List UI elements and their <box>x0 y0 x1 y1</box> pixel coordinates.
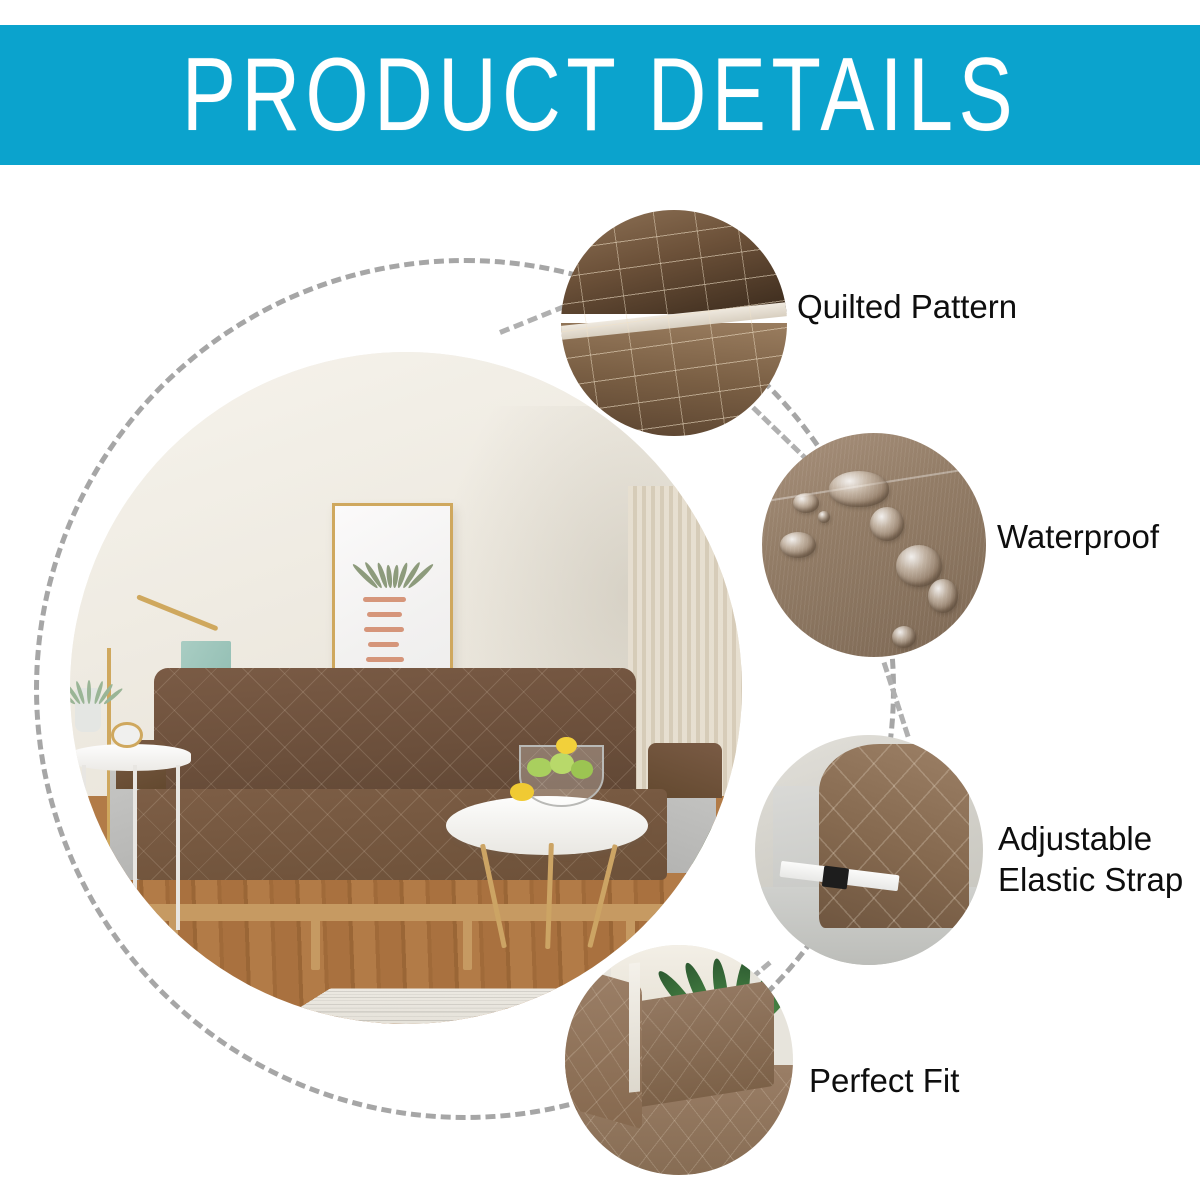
detail-image-waterproof <box>762 433 986 657</box>
greenery-leaf <box>87 680 91 704</box>
lettering-line <box>367 612 402 617</box>
table-leg <box>587 844 618 948</box>
lemon <box>556 737 577 754</box>
water-droplet <box>892 626 916 648</box>
coffee-table <box>446 796 648 944</box>
quilt-pattern-back <box>633 980 774 1108</box>
lettering-line <box>366 657 405 662</box>
label-perfect-fit: Perfect Fit <box>809 1060 959 1101</box>
label-waterproof: Waterproof <box>997 516 1159 557</box>
backrest-cover <box>633 980 774 1108</box>
vase-greenery <box>70 644 109 704</box>
diamond-quilt-pattern <box>819 744 969 928</box>
page-title: PRODUCT DETAILS <box>182 43 1018 147</box>
label-quilted-pattern: Quilted Pattern <box>797 286 1017 327</box>
side-table-leg <box>176 765 180 930</box>
label-adjustable-elastic-strap: Adjustable Elastic Strap <box>998 818 1183 900</box>
header-banner: PRODUCT DETAILS <box>0 25 1200 165</box>
pineapple-leaves-icon <box>365 535 420 588</box>
lettering-line <box>364 627 404 632</box>
side-table <box>70 728 191 930</box>
detail-image-perfect-fit <box>565 945 793 1175</box>
water-droplet <box>829 471 889 507</box>
lettering-line <box>363 597 406 602</box>
product-details-infographic: PRODUCT DETAILS <box>0 0 1200 1200</box>
water-droplet <box>780 532 816 558</box>
water-droplet <box>870 507 904 541</box>
lettering-line <box>368 642 399 647</box>
cover-white-edge <box>629 963 640 1093</box>
side-table-top <box>70 744 191 770</box>
fruit-bowl <box>519 745 604 807</box>
stitch-lines <box>561 210 787 436</box>
quilted-arm-cover <box>819 744 969 928</box>
detail-image-quilted-pattern <box>561 210 787 436</box>
table-leg <box>480 843 507 948</box>
sofa-leg <box>311 918 320 970</box>
green-fruit <box>527 758 551 778</box>
table-leg <box>545 843 554 950</box>
lemon <box>510 783 534 800</box>
side-table-leg <box>82 765 86 930</box>
table-clock <box>111 722 142 748</box>
green-fruit <box>571 760 594 779</box>
living-room-scene <box>70 352 742 1024</box>
strap-buckle <box>822 866 849 890</box>
side-table-leg <box>133 765 137 930</box>
detail-image-elastic-strap <box>755 735 983 965</box>
main-scene-photo <box>70 352 742 1024</box>
water-droplet <box>928 579 958 613</box>
